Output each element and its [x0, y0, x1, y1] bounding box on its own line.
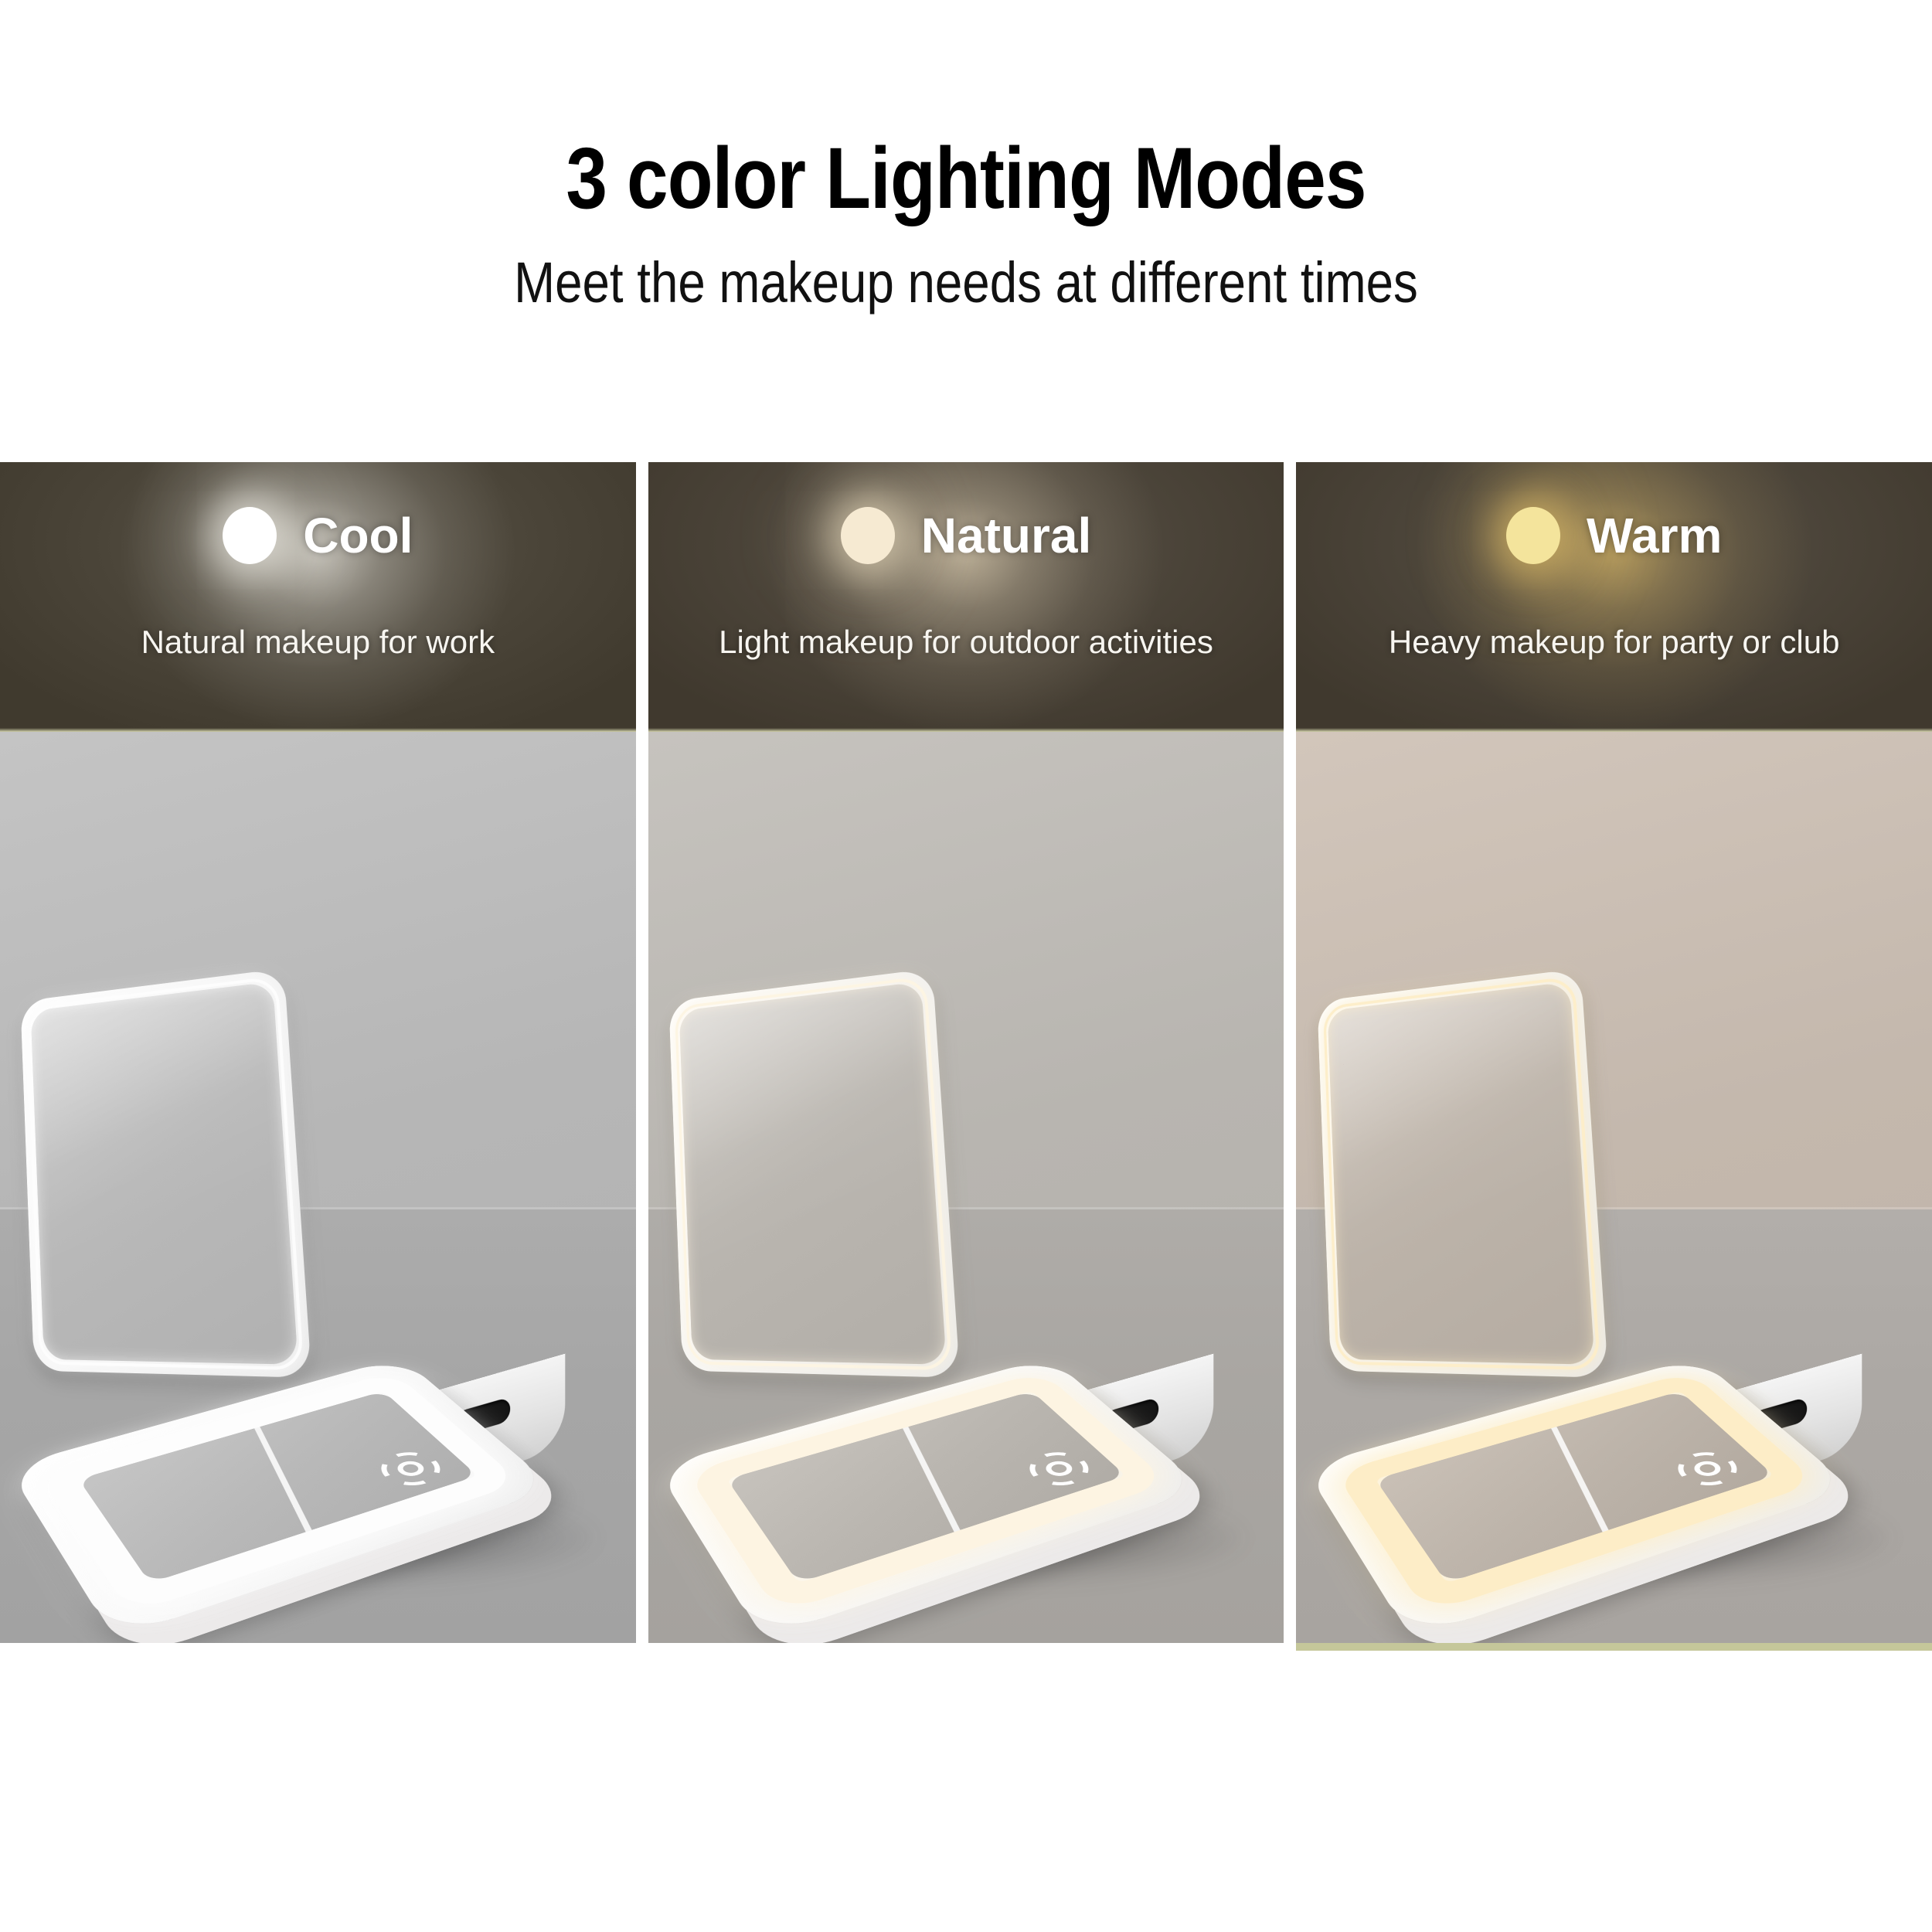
mirror-reflection-split: [251, 1420, 318, 1542]
mode-panel-cool[interactable]: Cool Natural makeup for work: [0, 462, 636, 1651]
light-bulb-dot-icon: [841, 507, 895, 564]
mode-description-label: Natural makeup for work: [23, 623, 613, 662]
lighting-modes-panel-row: Cool Natural makeup for work: [0, 462, 1932, 1651]
page-title: 3 color Lighting Modes: [135, 0, 1797, 222]
product-photo-warm: [1296, 732, 1932, 1651]
lid-light-rim: [675, 976, 953, 1371]
mode-title-row: Natural: [648, 507, 1284, 564]
panel-bottom-edge: [648, 1643, 1284, 1651]
light-bulb-dot-icon: [223, 507, 277, 564]
mode-title-row: Warm: [1296, 507, 1932, 564]
led-makeup-mirror-product: [657, 951, 1275, 1592]
mode-panel-natural[interactable]: Natural Light makeup for outdoor activit…: [648, 462, 1284, 1651]
flip-open-mirror-lid: [21, 968, 312, 1378]
mode-header-warm: Warm Heavy makeup for party or club: [1296, 462, 1932, 732]
mode-panel-warm[interactable]: Warm Heavy makeup for party or club: [1296, 462, 1932, 1651]
header-background: [1296, 462, 1932, 732]
lid-light-rim: [26, 976, 304, 1371]
mode-name-label: Natural: [921, 511, 1092, 560]
panel-bottom-edge: [1296, 1643, 1932, 1651]
panel-bottom-edge: [0, 1643, 636, 1651]
mode-header-cool: Cool Natural makeup for work: [0, 462, 636, 732]
mode-title-row: Cool: [0, 507, 636, 564]
mode-header-natural: Natural Light makeup for outdoor activit…: [648, 462, 1284, 732]
led-makeup-mirror-product: [1305, 951, 1923, 1592]
header-background: [0, 462, 636, 732]
lid-light-rim: [1322, 976, 1600, 1371]
product-photo-cool: [0, 732, 636, 1651]
mirror-reflection-split: [1547, 1420, 1614, 1542]
flip-open-mirror-lid: [668, 968, 960, 1378]
page-heading-block: 3 color Lighting Modes Meet the makeup n…: [0, 0, 1932, 311]
led-makeup-mirror-product: [9, 951, 627, 1592]
header-background: [648, 462, 1284, 732]
page-subtitle: Meet the makeup needs at different times: [135, 222, 1797, 311]
mirror-reflection-split: [900, 1420, 966, 1542]
light-bulb-dot-icon: [1506, 507, 1560, 564]
product-photo-natural: [648, 732, 1284, 1651]
mode-description-label: Light makeup for outdoor activities: [672, 623, 1261, 662]
mode-description-label: Heavy makeup for party or club: [1319, 623, 1909, 662]
flip-open-mirror-lid: [1317, 968, 1608, 1378]
mode-name-label: Cool: [303, 511, 413, 560]
mode-name-label: Warm: [1587, 511, 1722, 560]
